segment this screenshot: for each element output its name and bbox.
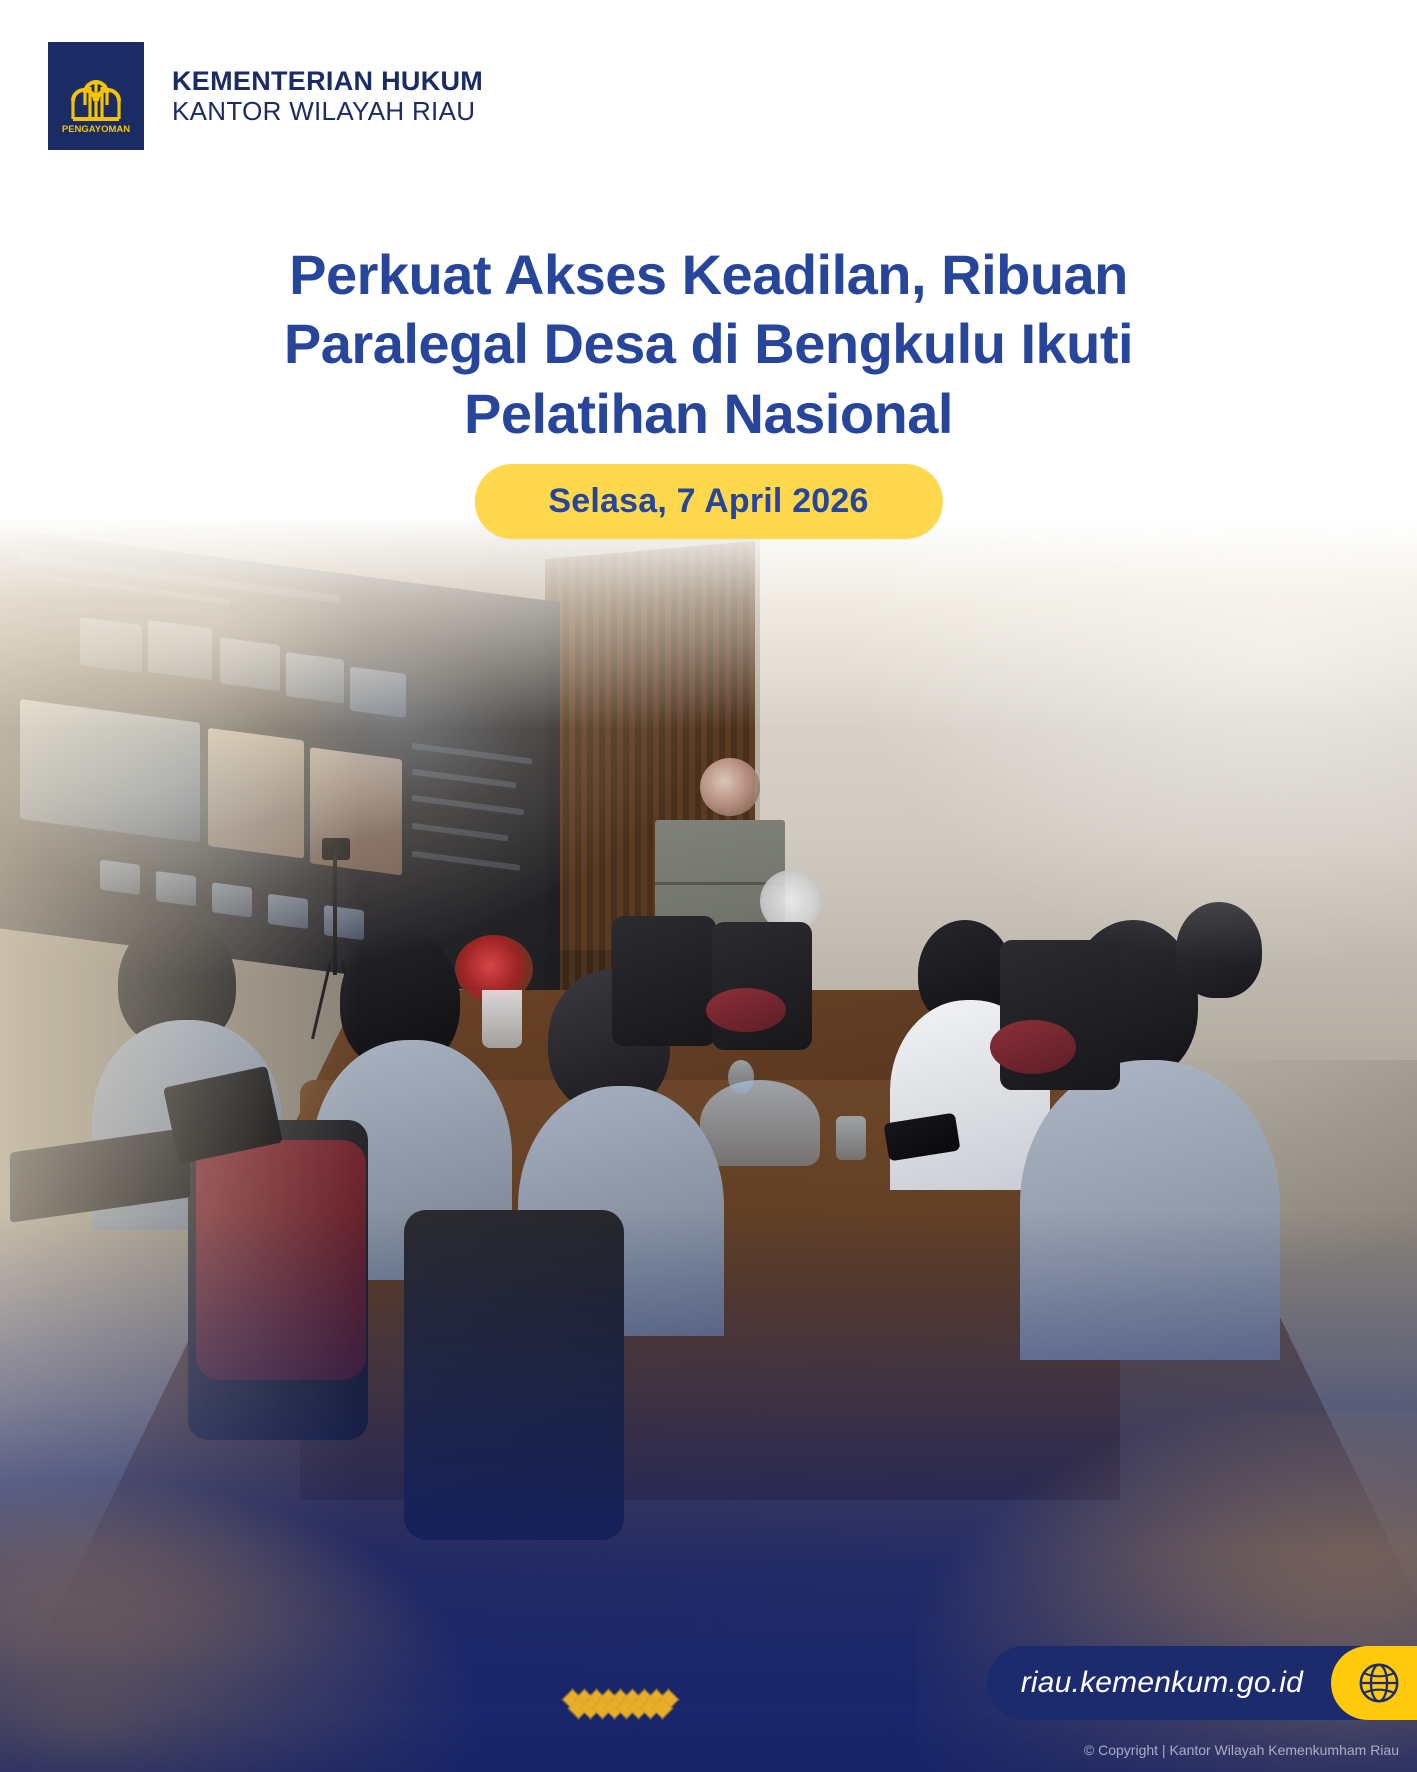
brand-text: KEMENTERIAN HUKUM KANTOR WILAYAH RIAU: [172, 66, 483, 125]
songket-diamond-ornament-row2-icon: [572, 1702, 668, 1715]
footer: riau.kemenkum.go.id © Copyright | Kantor…: [0, 1582, 1417, 1772]
brand-secondary: KANTOR WILAYAH RIAU: [172, 97, 483, 126]
photo-chair-front-mid: [404, 1210, 624, 1540]
photo-chair-back-right-seat: [706, 988, 786, 1032]
date-badge-label: Selasa, 7 April 2026: [548, 482, 868, 521]
title-line-3: Pelatihan Nasional: [180, 379, 1237, 448]
copyright-text: © Copyright | Kantor Wilayah Kemenkumham…: [1084, 1742, 1399, 1758]
page-title: Perkuat Akses Keadilan, Ribuan Paralegal…: [0, 240, 1417, 448]
pengayoman-banyan-tree-logo-icon: PENGAYOMAN: [48, 42, 144, 150]
photo-flower-arrangement-back: [700, 758, 760, 816]
photo-chair-right-seat: [990, 1020, 1076, 1074]
photo-glassware-tray: [700, 1080, 820, 1166]
photo-chair-back-left: [612, 916, 716, 1046]
photo-glass-lid: [728, 1060, 754, 1094]
photo-chair-back-right: [712, 922, 812, 1050]
brand-primary: KEMENTERIAN HUKUM: [172, 66, 483, 96]
title-line-1: Perkuat Akses Keadilan, Ribuan: [180, 240, 1237, 309]
photo-tripod-column: [333, 850, 337, 975]
photo-chair-front-left-seat: [196, 1140, 366, 1380]
photo-attendee-5-body: [1020, 1060, 1280, 1360]
photo-vase: [482, 990, 522, 1048]
title-line-2: Paralegal Desa di Bengkulu Ikuti: [180, 309, 1237, 378]
logo-caption: PENGAYOMAN: [62, 124, 130, 135]
date-badge: Selasa, 7 April 2026: [474, 464, 942, 539]
website-pill[interactable]: riau.kemenkum.go.id: [987, 1646, 1417, 1720]
news-poster: PENGAYOMAN KEMENTERIAN HUKUM KANTOR WILA…: [0, 0, 1417, 1772]
globe-icon[interactable]: [1331, 1646, 1417, 1720]
website-url[interactable]: riau.kemenkum.go.id: [1021, 1666, 1331, 1700]
photo-projection-screen: [0, 526, 560, 1002]
photo-water-glass: [836, 1116, 866, 1160]
brand-header: PENGAYOMAN KEMENTERIAN HUKUM KANTOR WILA…: [48, 42, 483, 150]
photo-attendee-6-head: [1176, 902, 1262, 998]
